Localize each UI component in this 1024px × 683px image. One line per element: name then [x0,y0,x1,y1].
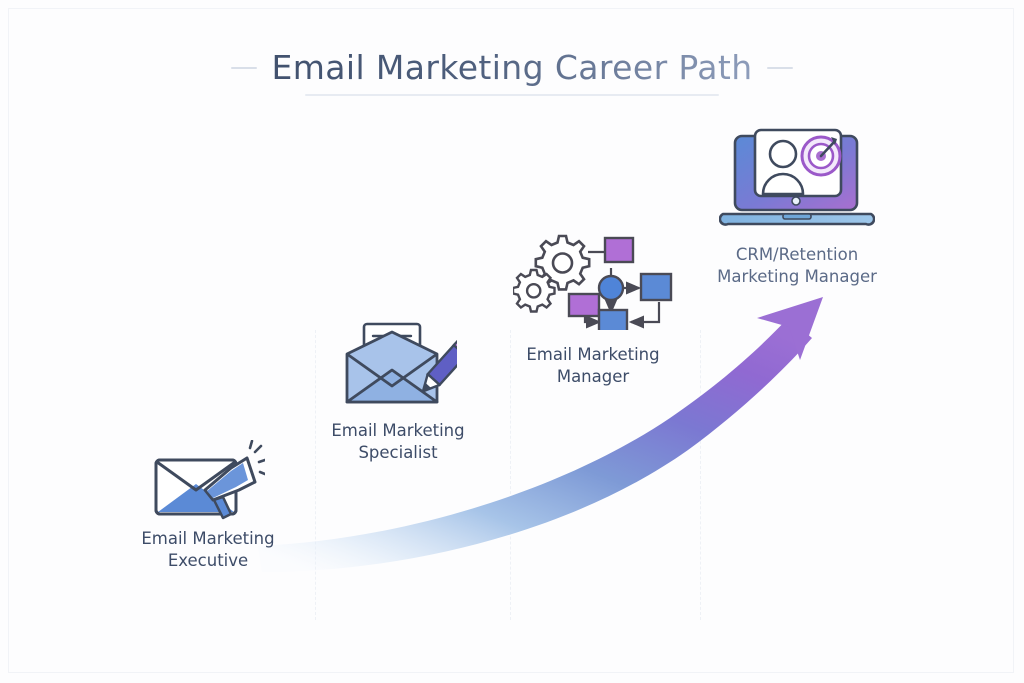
stage-label-executive: Email Marketing Executive [108,528,308,573]
envelope-pencil-icon [339,320,457,412]
stage-specialist[interactable]: Email Marketing Specialist [298,320,498,465]
page-title-block: Email Marketing Career Path [0,48,1024,87]
laptop-audience-target-icon [719,128,875,232]
stage-label-manager: Email Marketing Manager [493,344,693,389]
title-left-rule [231,67,257,69]
stage-executive[interactable]: Email Marketing Executive [108,440,308,573]
title-underline [305,94,719,96]
career-path-infographic: Email Marketing Career Path [0,0,1024,683]
stage-label-specialist: Email Marketing Specialist [298,420,498,465]
stage-crm-manager[interactable]: CRM/Retention Marketing Manager [697,128,897,289]
gridline-3 [700,330,701,620]
stage-label-crm-manager: CRM/Retention Marketing Manager [697,244,897,289]
envelope-megaphone-icon [151,440,265,520]
title-right-rule [767,67,793,69]
workflow-gears-icon [513,230,673,330]
stage-manager[interactable]: Email Marketing Manager [493,230,693,389]
page-title: Email Marketing Career Path [271,48,752,87]
